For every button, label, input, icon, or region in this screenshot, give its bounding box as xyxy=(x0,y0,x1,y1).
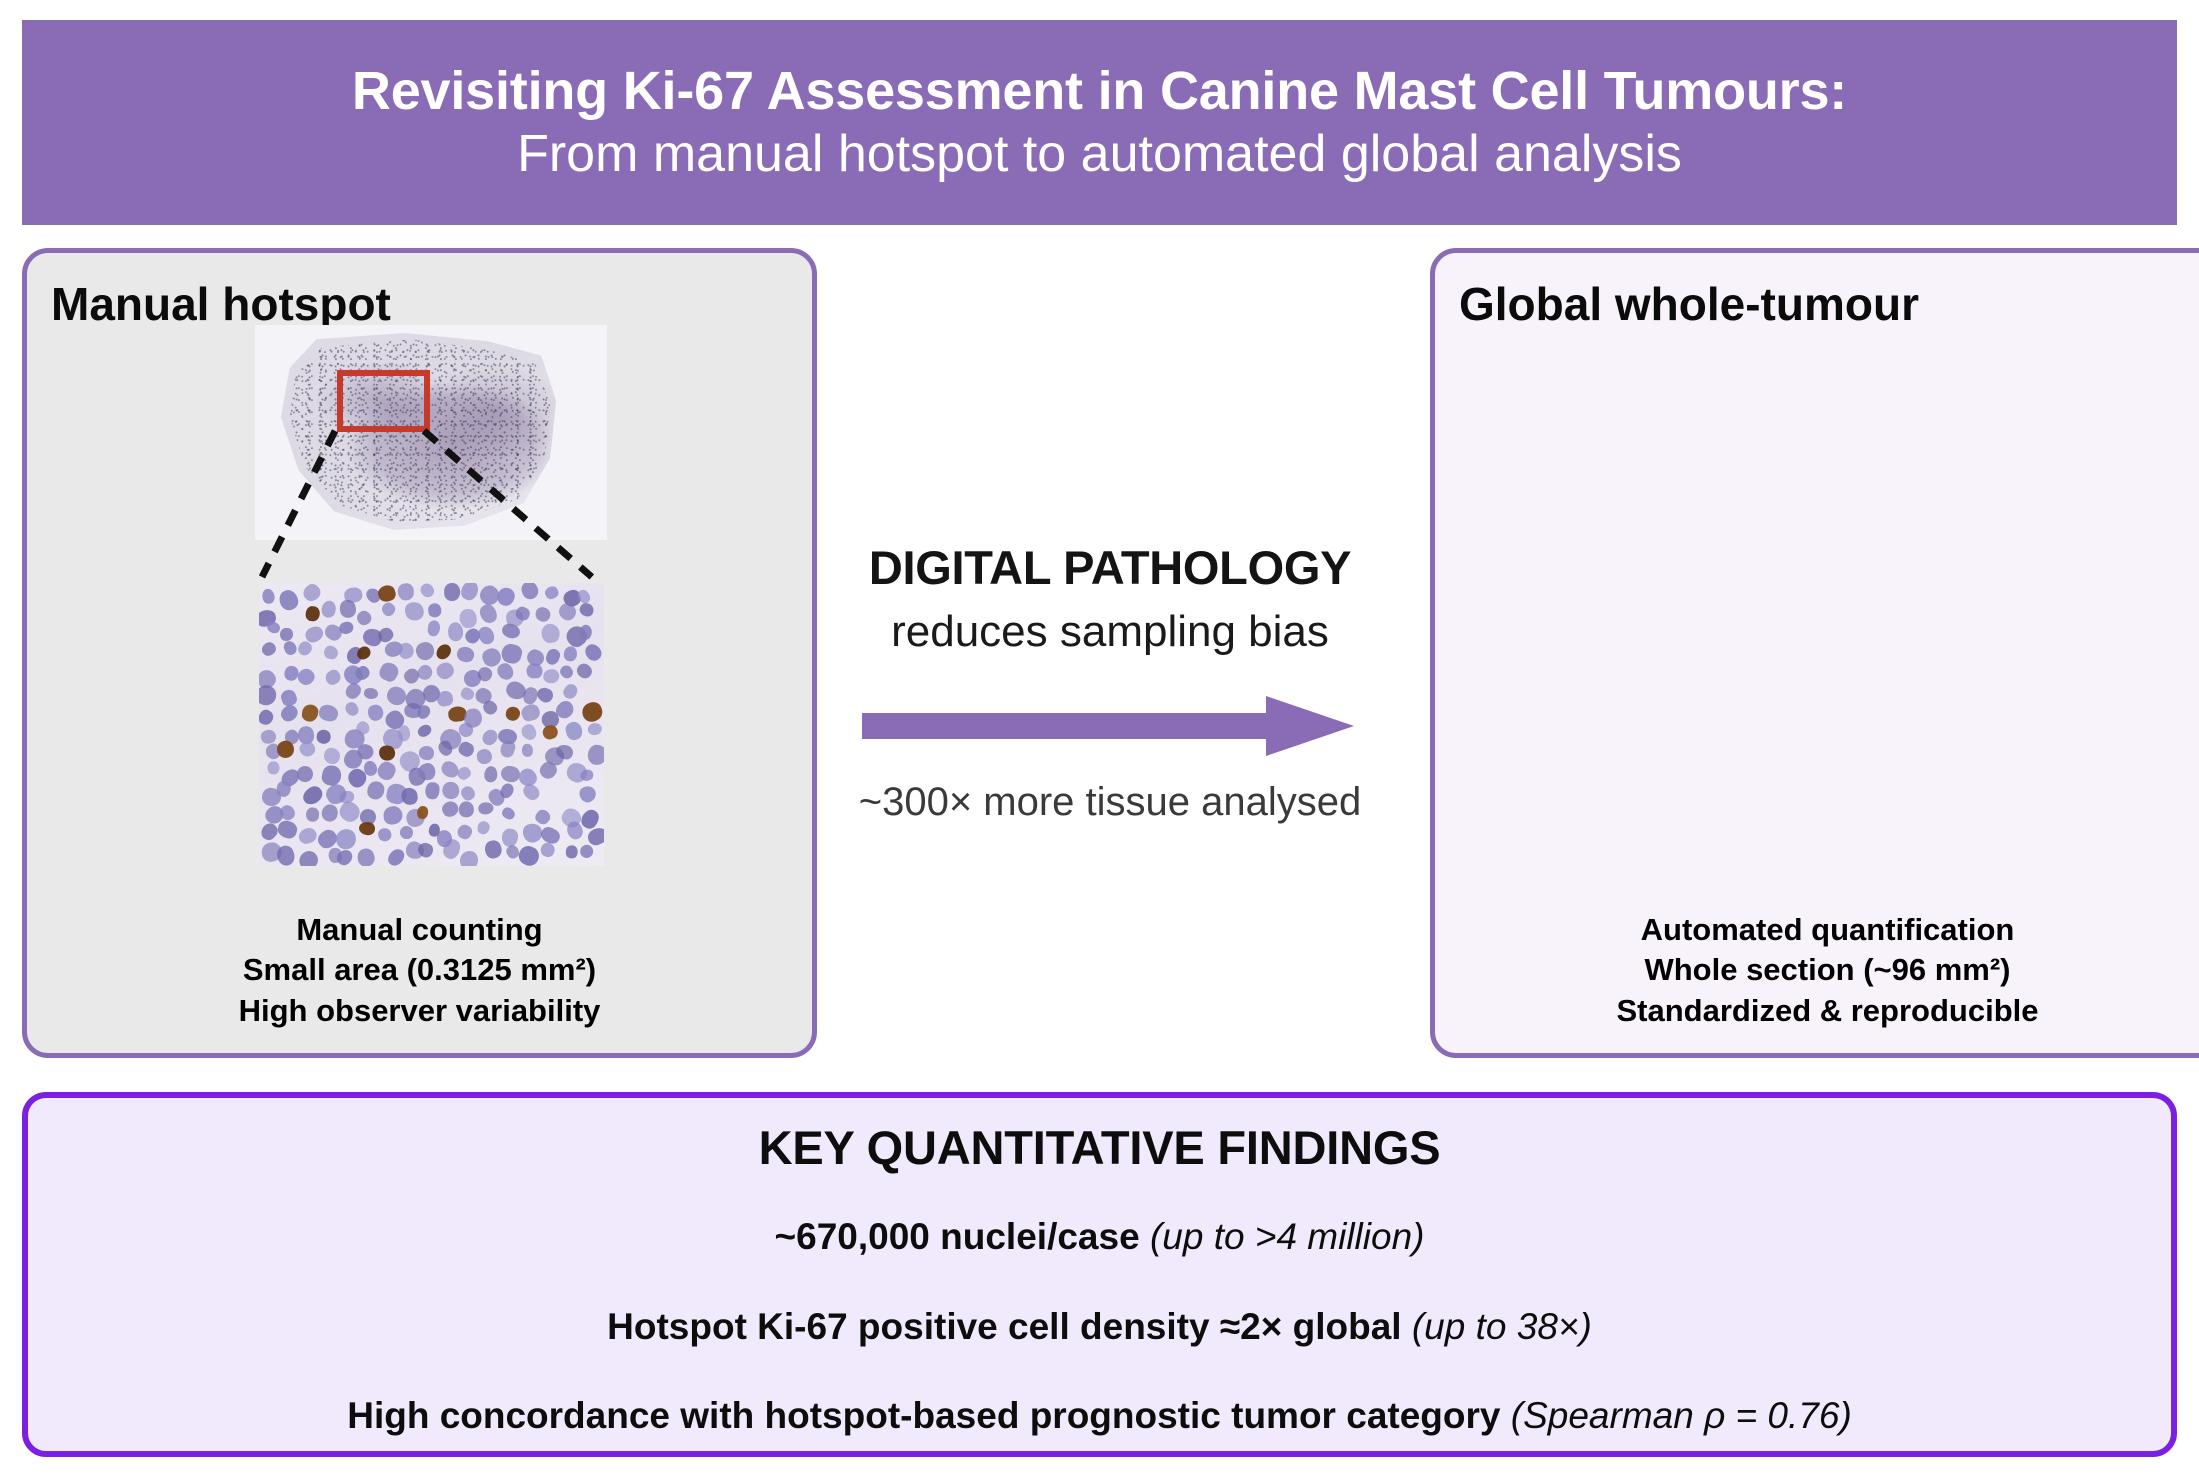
caption-line: Standardized & reproducible xyxy=(1435,991,2199,1031)
ki67-negative-nucleus xyxy=(380,600,398,618)
ki67-negative-nucleus xyxy=(583,641,604,663)
ki67-negative-nucleus xyxy=(544,647,562,666)
finding-item: High concordance with hotspot-based prog… xyxy=(28,1395,2171,1437)
ki67-positive-nucleus xyxy=(580,699,604,724)
ki67-negative-nucleus xyxy=(259,684,277,706)
key-findings-title: KEY QUANTITATIVE FINDINGS xyxy=(28,1120,2171,1175)
center-title: DIGITAL PATHOLOGY xyxy=(840,540,1380,595)
ki67-positive-nucleus xyxy=(302,704,320,722)
ki67-negative-nucleus xyxy=(474,624,497,648)
ki67-negative-nucleus xyxy=(277,819,300,840)
hotspot-high-power-field-image xyxy=(259,583,604,866)
ki67-negative-nucleus xyxy=(563,645,578,661)
ki67-negative-nucleus xyxy=(543,585,560,602)
ki67-positive-nucleus xyxy=(505,705,521,721)
title-line-secondary: From manual hotspot to automated global … xyxy=(517,124,1682,185)
ki67-negative-nucleus xyxy=(565,844,578,859)
ki67-negative-nucleus xyxy=(354,608,373,627)
transition-arrow xyxy=(858,692,1358,760)
finding-main: ~670,000 nuclei/case xyxy=(775,1216,1140,1257)
ki67-negative-nucleus xyxy=(534,605,554,624)
ki67-negative-nucleus xyxy=(475,819,491,836)
center-message: DIGITAL PATHOLOGY reduces sampling bias xyxy=(840,540,1380,657)
ki67-negative-nucleus xyxy=(300,782,325,806)
ki67-negative-nucleus xyxy=(459,686,476,702)
ki67-negative-nucleus xyxy=(520,703,542,723)
ki67-negative-nucleus xyxy=(267,761,280,775)
ki67-negative-nucleus xyxy=(542,668,561,685)
ki67-negative-nucleus xyxy=(317,729,332,744)
ki67-negative-nucleus xyxy=(496,587,515,607)
ki67-negative-nucleus xyxy=(477,801,494,815)
ki67-negative-nucleus xyxy=(484,765,499,782)
ki67-negative-nucleus xyxy=(321,764,343,787)
ki67-negative-nucleus xyxy=(368,782,385,800)
ki67-negative-nucleus xyxy=(459,851,479,866)
ki67-negative-nucleus xyxy=(306,807,320,822)
ki67-negative-nucleus xyxy=(500,806,517,822)
ki67-negative-nucleus xyxy=(281,640,298,658)
ki67-negative-nucleus xyxy=(319,599,337,619)
ki67-negative-nucleus xyxy=(376,826,392,842)
ki67-negative-nucleus xyxy=(455,645,476,665)
ki67-negative-nucleus xyxy=(260,587,275,604)
ki67-negative-nucleus xyxy=(300,583,324,604)
ki67-negative-nucleus xyxy=(277,588,301,613)
panel-manual-hotspot: Manual hotspot Manual counting Small are… xyxy=(22,248,817,1058)
ki67-negative-nucleus xyxy=(377,660,401,684)
ki67-negative-nucleus xyxy=(276,780,291,797)
ki67-negative-nucleus xyxy=(577,601,596,619)
ki67-negative-nucleus xyxy=(575,661,594,680)
finding-note: (Spearman ρ = 0.76) xyxy=(1511,1395,1852,1436)
finding-main: Hotspot Ki-67 positive cell density ≈2× … xyxy=(607,1306,1401,1347)
ki67-negative-nucleus xyxy=(259,707,275,727)
ki67-negative-nucleus xyxy=(440,780,461,801)
ki67-negative-nucleus xyxy=(519,583,540,601)
ki67-positive-nucleus xyxy=(376,584,398,604)
caption-line: Manual counting xyxy=(27,910,812,950)
ki67-negative-nucleus xyxy=(459,801,475,818)
ki67-negative-nucleus xyxy=(541,623,561,644)
ki67-negative-nucleus xyxy=(515,843,542,866)
ki67-negative-nucleus xyxy=(579,625,592,640)
panel-global-whole-tumour: Global whole-tumour Automated quantifica… xyxy=(1430,248,2199,1058)
ki67-negative-nucleus xyxy=(459,583,481,603)
ki67-negative-nucleus xyxy=(296,764,315,783)
ki67-negative-nucleus xyxy=(459,784,478,803)
ki67-negative-nucleus xyxy=(322,667,343,687)
ki67-negative-nucleus xyxy=(323,747,341,765)
panel-caption-manual: Manual counting Small area (0.3125 mm²) … xyxy=(27,910,812,1031)
title-line-primary: Revisiting Ki-67 Assessment in Canine Ma… xyxy=(352,60,1847,124)
ki67-negative-nucleus xyxy=(587,722,603,737)
ki67-negative-nucleus xyxy=(343,680,364,701)
ki67-negative-nucleus xyxy=(317,703,340,724)
finding-item: ~670,000 nuclei/case (up to >4 million) xyxy=(28,1216,2171,1258)
ki67-positive-nucleus xyxy=(305,606,320,623)
ki67-negative-nucleus xyxy=(295,847,321,866)
ki67-negative-nucleus xyxy=(384,846,407,866)
ki67-positive-nucleus xyxy=(379,745,396,761)
ki67-negative-nucleus xyxy=(323,645,339,661)
ki67-negative-nucleus xyxy=(427,620,441,637)
ki67-negative-nucleus xyxy=(414,640,436,662)
ki67-negative-nucleus xyxy=(355,847,377,866)
ki67-negative-nucleus xyxy=(522,743,534,757)
ki67-negative-nucleus xyxy=(419,745,435,760)
title-banner: Revisiting Ki-67 Assessment in Canine Ma… xyxy=(22,20,2177,225)
center-footnote: ~300× more tissue analysed xyxy=(840,780,1380,825)
ki67-negative-nucleus xyxy=(426,782,441,800)
ki67-negative-nucleus xyxy=(577,783,599,805)
ki67-negative-nucleus xyxy=(400,826,414,839)
caption-line: Small area (0.3125 mm²) xyxy=(27,950,812,990)
ki67-negative-nucleus xyxy=(564,720,584,742)
center-subtitle: reduces sampling bias xyxy=(840,607,1380,657)
ki67-negative-nucleus xyxy=(561,682,580,702)
ki67-negative-nucleus xyxy=(519,722,540,743)
finding-note: (up to 38×) xyxy=(1412,1306,1592,1347)
ki67-negative-nucleus xyxy=(460,608,478,628)
ki67-negative-nucleus xyxy=(374,758,398,782)
ki67-negative-nucleus xyxy=(587,744,604,765)
ki67-negative-nucleus xyxy=(455,823,473,841)
ki67-negative-nucleus xyxy=(429,603,443,618)
arrow-right-icon xyxy=(858,692,1358,760)
ki67-negative-nucleus xyxy=(398,726,410,742)
finding-main: High concordance with hotspot-based prog… xyxy=(347,1395,1500,1436)
ki67-negative-nucleus xyxy=(535,685,555,704)
ki67-negative-nucleus xyxy=(527,663,543,679)
ki67-negative-nucleus xyxy=(417,723,434,739)
key-findings-box: KEY QUANTITATIVE FINDINGS ~670,000 nucle… xyxy=(22,1092,2177,1457)
finding-note: (up to >4 million) xyxy=(1150,1216,1425,1257)
hpf-nuclei-layer xyxy=(259,583,604,866)
ki67-negative-nucleus xyxy=(444,583,461,601)
ki67-negative-nucleus xyxy=(363,687,379,700)
caption-line: Whole section (~96 mm²) xyxy=(1435,950,2199,990)
graphical-abstract: Revisiting Ki-67 Assessment in Canine Ma… xyxy=(0,0,2199,1477)
ki67-negative-nucleus xyxy=(477,601,501,626)
ki67-negative-nucleus xyxy=(260,640,279,659)
ki67-negative-nucleus xyxy=(404,602,425,623)
ki67-negative-nucleus xyxy=(279,628,293,642)
panel-caption-global: Automated quantification Whole section (… xyxy=(1435,910,2199,1031)
caption-line: Automated quantification xyxy=(1435,910,2199,950)
ki67-negative-nucleus xyxy=(344,700,361,718)
ki67-negative-nucleus xyxy=(397,583,414,601)
panel-header-global: Global whole-tumour xyxy=(1459,277,1919,331)
ki67-negative-nucleus xyxy=(401,786,419,805)
ki67-negative-nucleus xyxy=(278,702,300,724)
ki67-negative-nucleus xyxy=(418,583,436,599)
finding-item: Hotspot Ki-67 positive cell density ≈2× … xyxy=(28,1306,2171,1348)
ki67-negative-nucleus xyxy=(434,659,457,682)
caption-line: High observer variability xyxy=(27,991,812,1031)
ki67-negative-nucleus xyxy=(558,664,575,681)
ki67-positive-nucleus xyxy=(433,641,453,661)
ki67-negative-nucleus xyxy=(382,804,405,826)
ki67-negative-nucleus xyxy=(320,802,340,823)
ki67-negative-nucleus xyxy=(366,703,385,722)
ki67-negative-nucleus xyxy=(476,748,492,764)
ki67-negative-nucleus xyxy=(297,825,319,845)
